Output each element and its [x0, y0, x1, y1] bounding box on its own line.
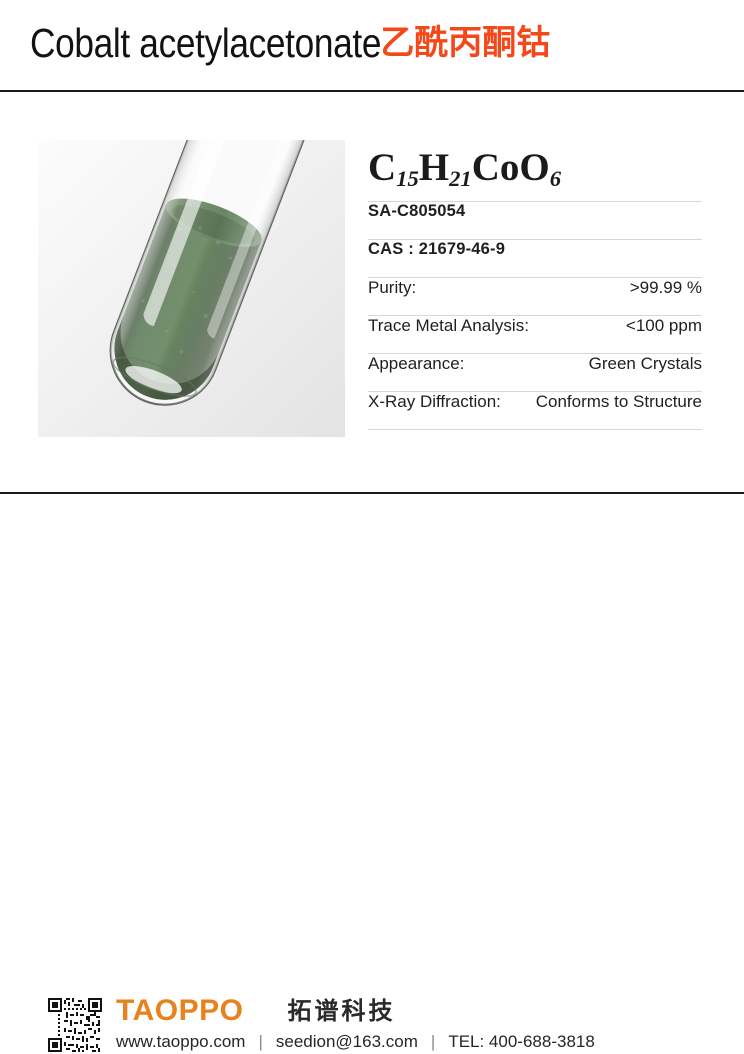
specification-panel: C15H21CoO6 SA-C805054 CAS : 21679-46-9 P… — [368, 140, 702, 430]
spec-value: >99.99 % — [630, 278, 702, 298]
header-divider — [0, 90, 744, 92]
qr-code[interactable] — [46, 996, 104, 1054]
email-link[interactable]: seedion@163.com — [276, 1032, 418, 1052]
catalog-number-row: SA-C805054 — [368, 202, 702, 239]
spec-row-purity: Purity: >99.99 % — [368, 278, 702, 315]
separator: | — [431, 1032, 435, 1052]
divider — [368, 429, 702, 430]
spec-value: <100 ppm — [626, 316, 702, 336]
formula-h-subscript: 21 — [449, 166, 472, 191]
telephone: TEL: 400-688-3818 — [448, 1032, 595, 1052]
product-photo — [38, 140, 345, 437]
spec-label: Purity: — [368, 278, 416, 298]
test-tube-illustration — [38, 140, 345, 437]
spec-row-x-ray-diffraction: X-Ray Diffraction: Conforms to Structure — [368, 392, 702, 429]
contact-row: www.taoppo.com | seedion@163.com | TEL: … — [116, 1032, 595, 1052]
formula-coo: CoO — [472, 146, 550, 189]
formula-h: H — [419, 146, 449, 189]
website-link[interactable]: www.taoppo.com — [116, 1032, 245, 1052]
page-title-english: Cobalt acetylacetonate — [30, 23, 381, 64]
formula-c: C — [368, 146, 396, 189]
spec-value: Green Crystals — [589, 354, 702, 374]
spec-value: Conforms to Structure — [536, 392, 702, 412]
brand-name-chinese: 拓谱科技 — [287, 999, 395, 1023]
chemical-formula: C15H21CoO6 — [368, 140, 702, 201]
brand-block: TAOPPO 拓谱科技 — [116, 994, 395, 1028]
footer: TAOPPO 拓谱科技 www.taoppo.com | seedion@163… — [0, 494, 744, 567]
formula-o-subscript: 6 — [550, 166, 561, 191]
brand-name: TAOPPO — [116, 996, 243, 1026]
cas-number-row: CAS : 21679-46-9 — [368, 240, 702, 277]
spec-row-trace-metal-analysis: Trace Metal Analysis: <100 ppm — [368, 316, 702, 353]
header: Cobalt acetylacetonate 乙酰丙酮钴 — [0, 0, 744, 92]
cas-number: CAS : 21679-46-9 — [368, 240, 505, 259]
spec-label: X-Ray Diffraction: — [368, 392, 501, 412]
spec-label: Trace Metal Analysis: — [368, 316, 529, 336]
page-title-chinese: 乙酰丙酮钴 — [380, 26, 550, 60]
catalog-number: SA-C805054 — [368, 202, 465, 221]
spec-label: Appearance: — [368, 354, 464, 374]
title-row: Cobalt acetylacetonate 乙酰丙酮钴 — [30, 12, 730, 74]
formula-c-subscript: 15 — [396, 166, 419, 191]
spec-row-appearance: Appearance: Green Crystals — [368, 354, 702, 391]
separator: | — [258, 1032, 262, 1052]
qr-code-icon — [46, 996, 104, 1054]
